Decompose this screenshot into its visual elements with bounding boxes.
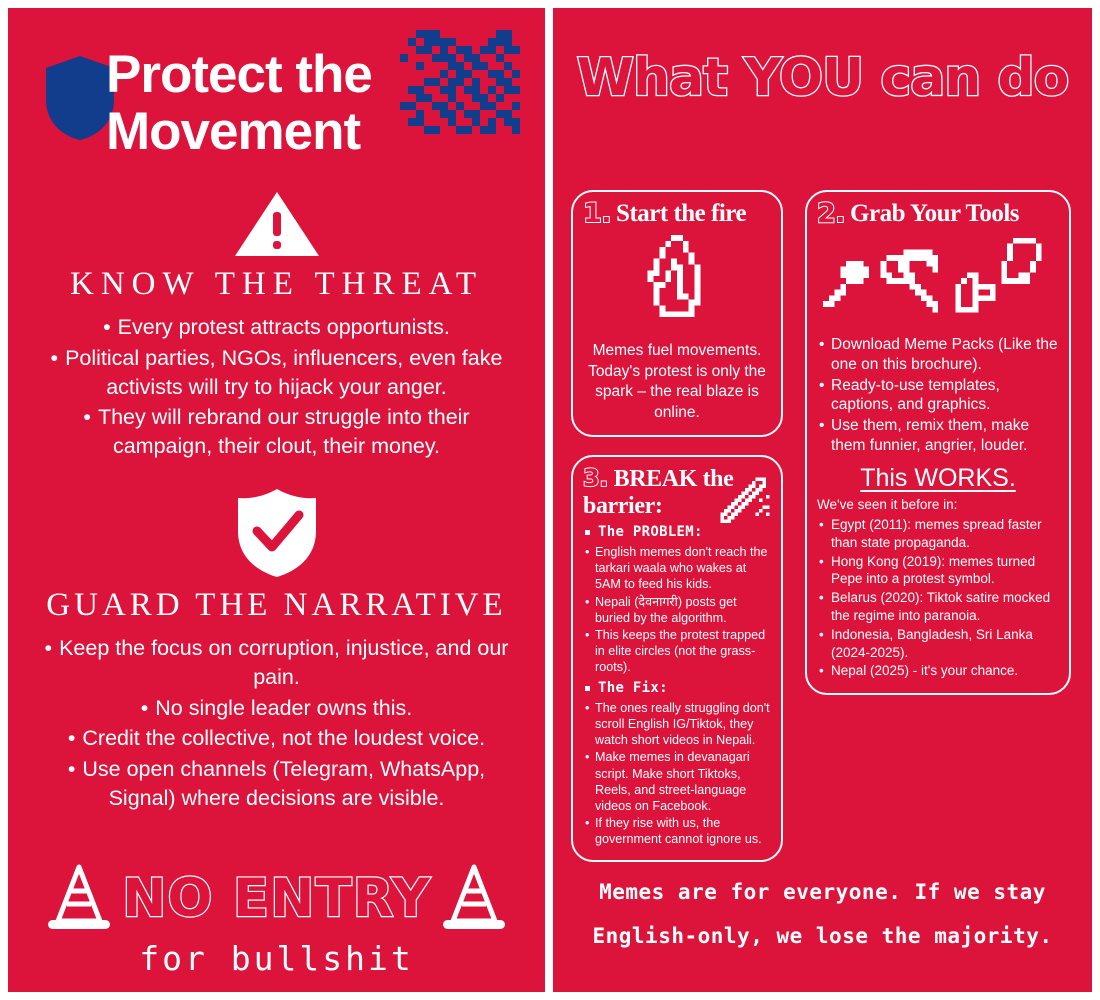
history-bullet-list: Egypt (2011): memes spread faster than s… bbox=[817, 516, 1059, 680]
list-item-text: Every protest attracts opportunists. bbox=[118, 315, 450, 339]
section-heading-know-the-threat: KNOW THE THREAT bbox=[8, 266, 545, 303]
narrative-bullet-list: •Keep the focus on corruption, injustice… bbox=[30, 634, 523, 813]
cards-right-column: 2. Grab Your Tools bbox=[805, 190, 1071, 862]
card-break-the-barrier[interactable]: 3. BREAK the barrier: bbox=[571, 455, 783, 862]
list-item: Make memes in devanagari script. Make sh… bbox=[583, 749, 771, 813]
list-item: •No single leader owns this. bbox=[30, 694, 523, 723]
card-number: 3. bbox=[583, 464, 608, 492]
card-number: 2. bbox=[817, 200, 845, 227]
card-body-text: Memes fuel movements. Today's protest is… bbox=[583, 341, 771, 423]
pixel-hammer-icon bbox=[823, 261, 869, 307]
list-item: •Credit the collective, not the loudest … bbox=[30, 724, 523, 753]
card-heading: 1. Start the fire bbox=[583, 200, 771, 228]
problem-label: The PROBLEM: bbox=[585, 524, 771, 540]
pixel-tools-icons bbox=[822, 232, 1054, 324]
card-heading: 2. Grab Your Tools bbox=[817, 200, 1059, 228]
list-item: If they rise with us, the government can… bbox=[583, 815, 771, 847]
pixel-pickaxe-icon bbox=[881, 249, 939, 312]
traffic-cone-icon bbox=[42, 861, 116, 935]
fix-bullet-list: The ones really struggling don't scroll … bbox=[583, 700, 771, 847]
no-entry-row: NO ENTRY bbox=[8, 861, 545, 935]
pixel-brush-icon bbox=[717, 473, 773, 531]
list-item: •Every protest attracts opportunists. bbox=[30, 313, 523, 342]
list-item: The ones really struggling don't scroll … bbox=[583, 700, 771, 748]
list-item: Belarus (2020): Tiktok satire mocked the… bbox=[817, 589, 1059, 625]
pixel-faucet-icon bbox=[955, 272, 995, 312]
right-panel-title: What YOU can do bbox=[553, 48, 1092, 108]
left-header: Protect the Movement bbox=[8, 8, 545, 168]
list-item: •Keep the focus on corruption, injustice… bbox=[30, 634, 523, 692]
brochure-root: Protect the Movement KNOW THE THREAT •Ev… bbox=[0, 0, 1100, 1000]
pixel-flame-icon bbox=[636, 234, 718, 330]
bullet-dot: • bbox=[103, 315, 111, 339]
bullet-dot: • bbox=[83, 405, 91, 429]
this-works-label: This WORKS. bbox=[817, 464, 1059, 493]
card-heading-text: Start the fire bbox=[616, 200, 746, 228]
list-item: •Use open channels (Telegram, WhatsApp, … bbox=[30, 755, 523, 813]
no-entry-footer: NO ENTRY for bullshit bbox=[8, 861, 545, 978]
fix-label: The Fix: bbox=[585, 680, 771, 696]
footer-slogan: Memes are for everyone. If we stay Engli… bbox=[589, 870, 1056, 958]
bullet-dot: • bbox=[141, 696, 149, 720]
seen-before-label: We've seen it before in: bbox=[817, 497, 1059, 512]
cards-left-column: 1. Start the fire bbox=[571, 190, 783, 862]
card-heading: 3. BREAK the barrier: bbox=[583, 465, 771, 519]
no-entry-label: NO ENTRY bbox=[122, 868, 431, 929]
left-panel: Protect the Movement KNOW THE THREAT •Ev… bbox=[8, 8, 545, 992]
list-item-text: Keep the focus on corruption, injustice,… bbox=[59, 636, 508, 689]
list-item: Egypt (2011): memes spread faster than s… bbox=[817, 516, 1059, 552]
tools-bullet-list: Download Meme Packs (Like the one on thi… bbox=[817, 335, 1059, 456]
list-item-text: Credit the collective, not the loudest v… bbox=[82, 726, 485, 750]
list-item: Nepali (देवनागरी) posts get buried by th… bbox=[583, 594, 771, 626]
card-grab-your-tools[interactable]: 2. Grab Your Tools bbox=[805, 190, 1071, 695]
list-item: •They will rebrand our struggle into the… bbox=[30, 403, 523, 461]
list-item-text: No single leader owns this. bbox=[155, 696, 412, 720]
bullet-dot: • bbox=[68, 726, 76, 750]
list-item: •Political parties, NGOs, influencers, e… bbox=[30, 344, 523, 402]
cards-container: 1. Start the fire bbox=[571, 190, 1074, 862]
list-item: Indonesia, Bangladesh, Sri Lanka (2024-2… bbox=[817, 626, 1059, 662]
right-panel: What YOU can do 1. Start the fire bbox=[553, 8, 1092, 992]
card-number: 1. bbox=[583, 200, 611, 227]
card-heading-text: Grab Your Tools bbox=[850, 200, 1019, 228]
warning-triangle-icon bbox=[234, 190, 320, 258]
problem-bullet-list: English memes don't reach the tarkari wa… bbox=[583, 544, 771, 675]
list-item: Download Meme Packs (Like the one on thi… bbox=[817, 335, 1059, 375]
page-title: Protect the Movement bbox=[106, 46, 446, 160]
list-item: English memes don't reach the tarkari wa… bbox=[583, 544, 771, 592]
list-item: Hong Kong (2019): memes turned Pepe into… bbox=[817, 553, 1059, 589]
list-item-text: Use open channels (Telegram, WhatsApp, S… bbox=[82, 757, 485, 810]
shield-check-icon bbox=[235, 487, 319, 579]
list-item-text: They will rebrand our struggle into thei… bbox=[98, 405, 470, 458]
bullet-dot: • bbox=[51, 346, 59, 370]
bullet-dot: • bbox=[45, 636, 53, 660]
section-heading-guard-the-narrative: GUARD THE NARRATIVE bbox=[8, 587, 545, 624]
pixel-phone-icon bbox=[1001, 238, 1041, 284]
list-item: This keeps the protest trapped in elite … bbox=[583, 627, 771, 675]
for-bullshit-label: for bullshit bbox=[8, 939, 545, 978]
list-item-text: Political parties, NGOs, influencers, ev… bbox=[65, 346, 502, 399]
list-item: Ready-to-use templates, captions, and gr… bbox=[817, 376, 1059, 416]
threat-bullet-list: •Every protest attracts opportunists. •P… bbox=[30, 313, 523, 461]
list-item: Use them, remix them, make them funnier,… bbox=[817, 416, 1059, 456]
traffic-cone-icon bbox=[437, 861, 511, 935]
card-start-the-fire[interactable]: 1. Start the fire bbox=[571, 190, 783, 437]
tools-icon-wrapper bbox=[817, 232, 1059, 329]
list-item: Nepal (2025) - it's your chance. bbox=[817, 662, 1059, 680]
flame-icon-wrapper bbox=[583, 234, 771, 335]
bullet-dot: • bbox=[68, 757, 76, 781]
